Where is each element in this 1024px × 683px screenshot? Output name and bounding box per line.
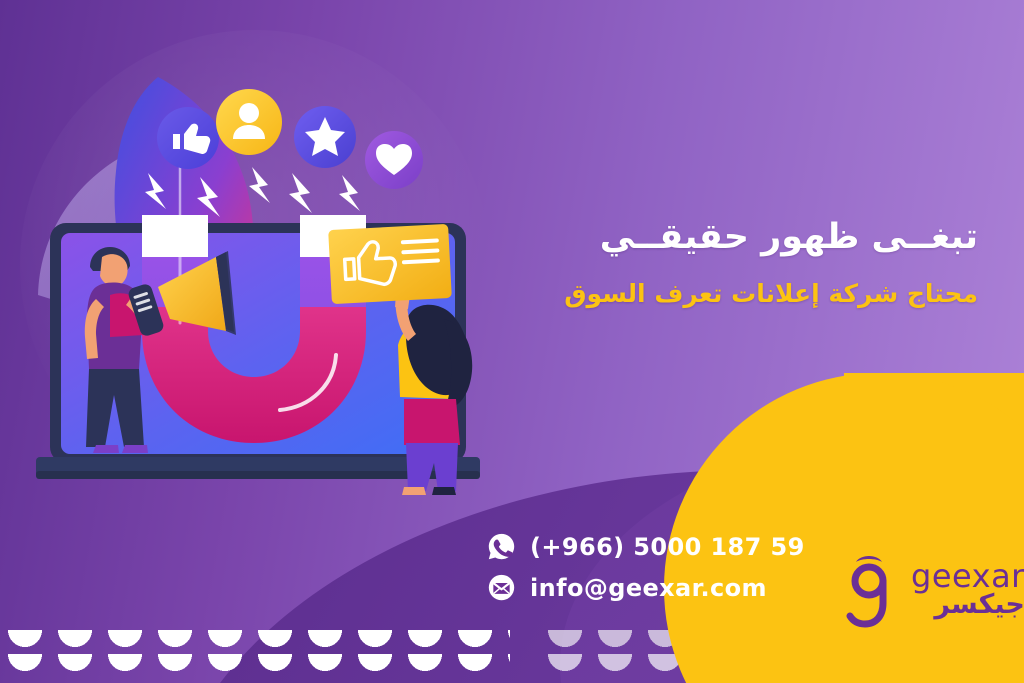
like-card [328, 224, 452, 304]
contact-block: (+966) 5000 187 59 info@geexar.com [487, 532, 805, 614]
yellow-corner-shape [664, 373, 1024, 683]
social-icon-heart [365, 131, 423, 189]
copy-block: تبغــى ظهور حقيقــي محتاج شركة إعلانات ت… [508, 214, 978, 311]
brand-name-arabic: جيكسر [911, 591, 1024, 619]
envelope-icon [487, 573, 516, 602]
contact-row-phone[interactable]: (+966) 5000 187 59 [487, 532, 805, 561]
phone-number: (+966) 5000 187 59 [530, 533, 805, 561]
magnet-marketing-illustration: U [30, 55, 500, 510]
social-icon-person [216, 89, 282, 155]
geexar-g-mark-icon [846, 548, 902, 632]
brand-logo[interactable]: geexar جيكسر [846, 548, 1024, 632]
brand-wordmarks: geexar جيكسر [911, 561, 1024, 620]
scallop-wave-left [0, 630, 510, 683]
whatsapp-icon [487, 532, 516, 561]
brand-name-latin: geexar [911, 561, 1024, 591]
promo-banner: U تبغــى ظهور حقيقــي محتاج شركة إعلانات… [0, 0, 1024, 683]
email-address: info@geexar.com [530, 574, 767, 602]
headline: تبغــى ظهور حقيقــي [508, 214, 978, 261]
social-icon-thumbs-up [157, 107, 219, 169]
subheadline: محتاج شركة إعلانات تعرف السوق [508, 277, 978, 311]
contact-row-email[interactable]: info@geexar.com [487, 573, 805, 602]
social-icon-star [294, 106, 356, 168]
